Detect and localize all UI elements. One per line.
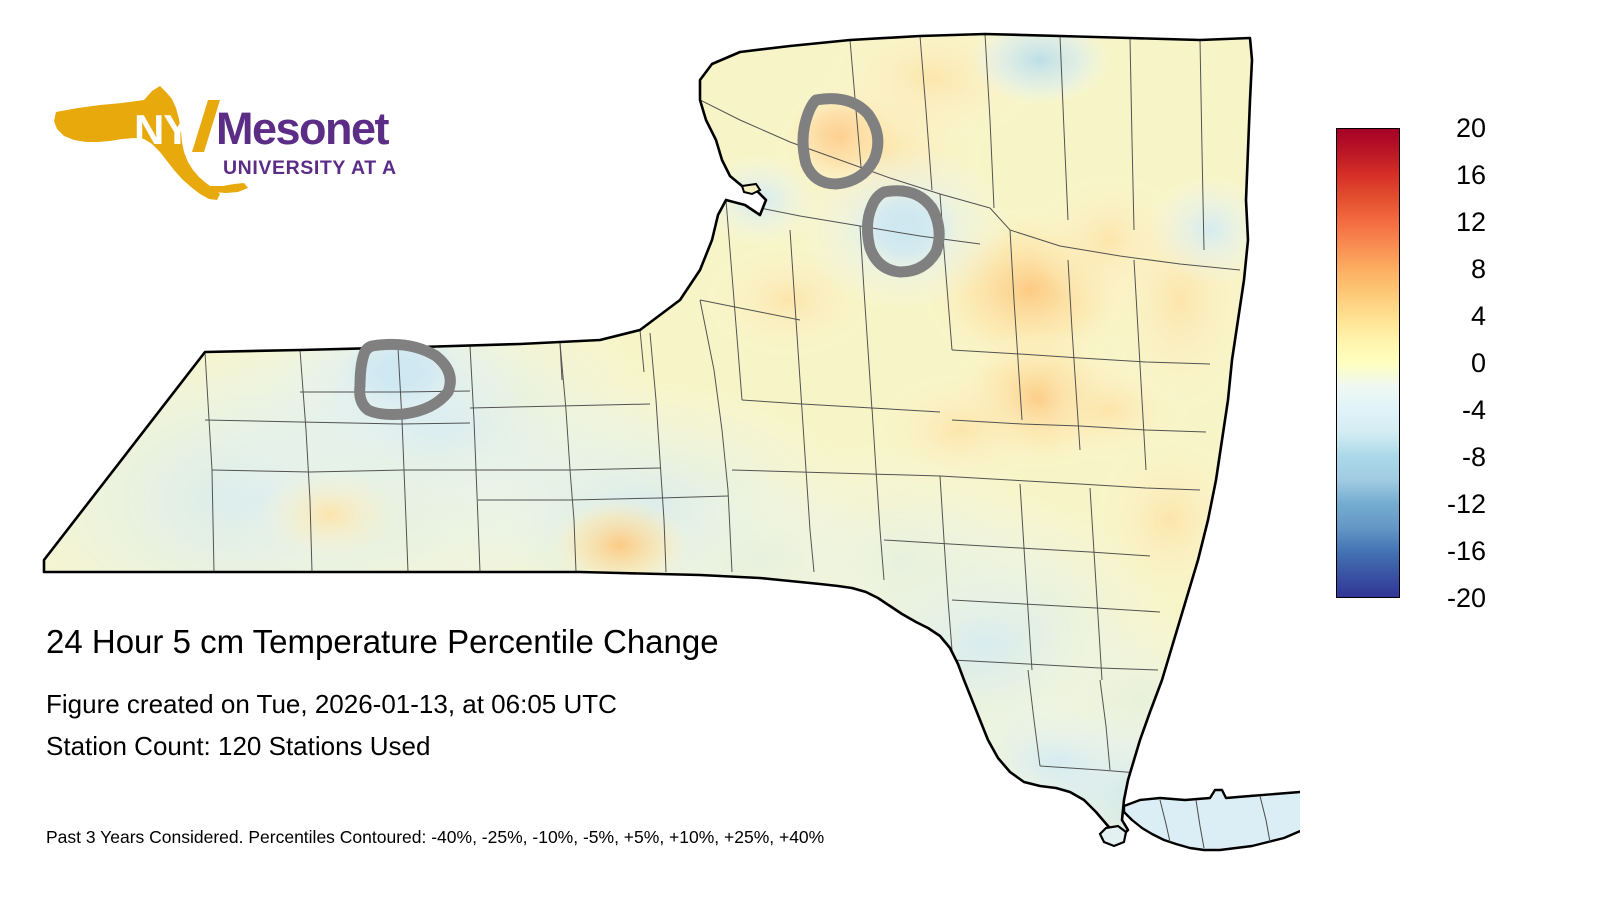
colorbar-tick-0: 0 [1412,350,1486,377]
colorbar-tick-minus4: -4 [1412,397,1486,424]
colorbar-tick-labels: 201612840-4-8-12-16-20 [1412,120,1532,606]
colorbar: 201612840-4-8-12-16-20 [1336,120,1566,610]
colorbar-tick-minus16: -16 [1412,538,1486,565]
colorbar-tick-16: 16 [1412,162,1486,189]
colorbar-tick-8: 8 [1412,256,1486,283]
colorbar-tick-minus12: -12 [1412,491,1486,518]
colorbar-gradient [1336,128,1400,598]
figure-title: 24 Hour 5 cm Temperature Percentile Chan… [46,622,1146,662]
colorbar-tick-12: 12 [1412,209,1486,236]
colorbar-tick-minus8: -8 [1412,444,1486,471]
figure-text-block: 24 Hour 5 cm Temperature Percentile Chan… [46,622,1146,762]
interpolated-percentile-field [0,0,1300,900]
figure-station-count: Station Count: 120 Stations Used [46,730,1146,762]
colorbar-tick-20: 20 [1412,115,1486,142]
colorbar-tick-4: 4 [1412,303,1486,330]
figure-footnote: Past 3 Years Considered. Percentiles Con… [46,826,824,848]
new-york-percentile-change-map [0,0,1300,900]
figure-created-timestamp: Figure created on Tue, 2026-01-13, at 06… [46,688,1146,720]
colorbar-tick-minus20: -20 [1412,585,1486,612]
